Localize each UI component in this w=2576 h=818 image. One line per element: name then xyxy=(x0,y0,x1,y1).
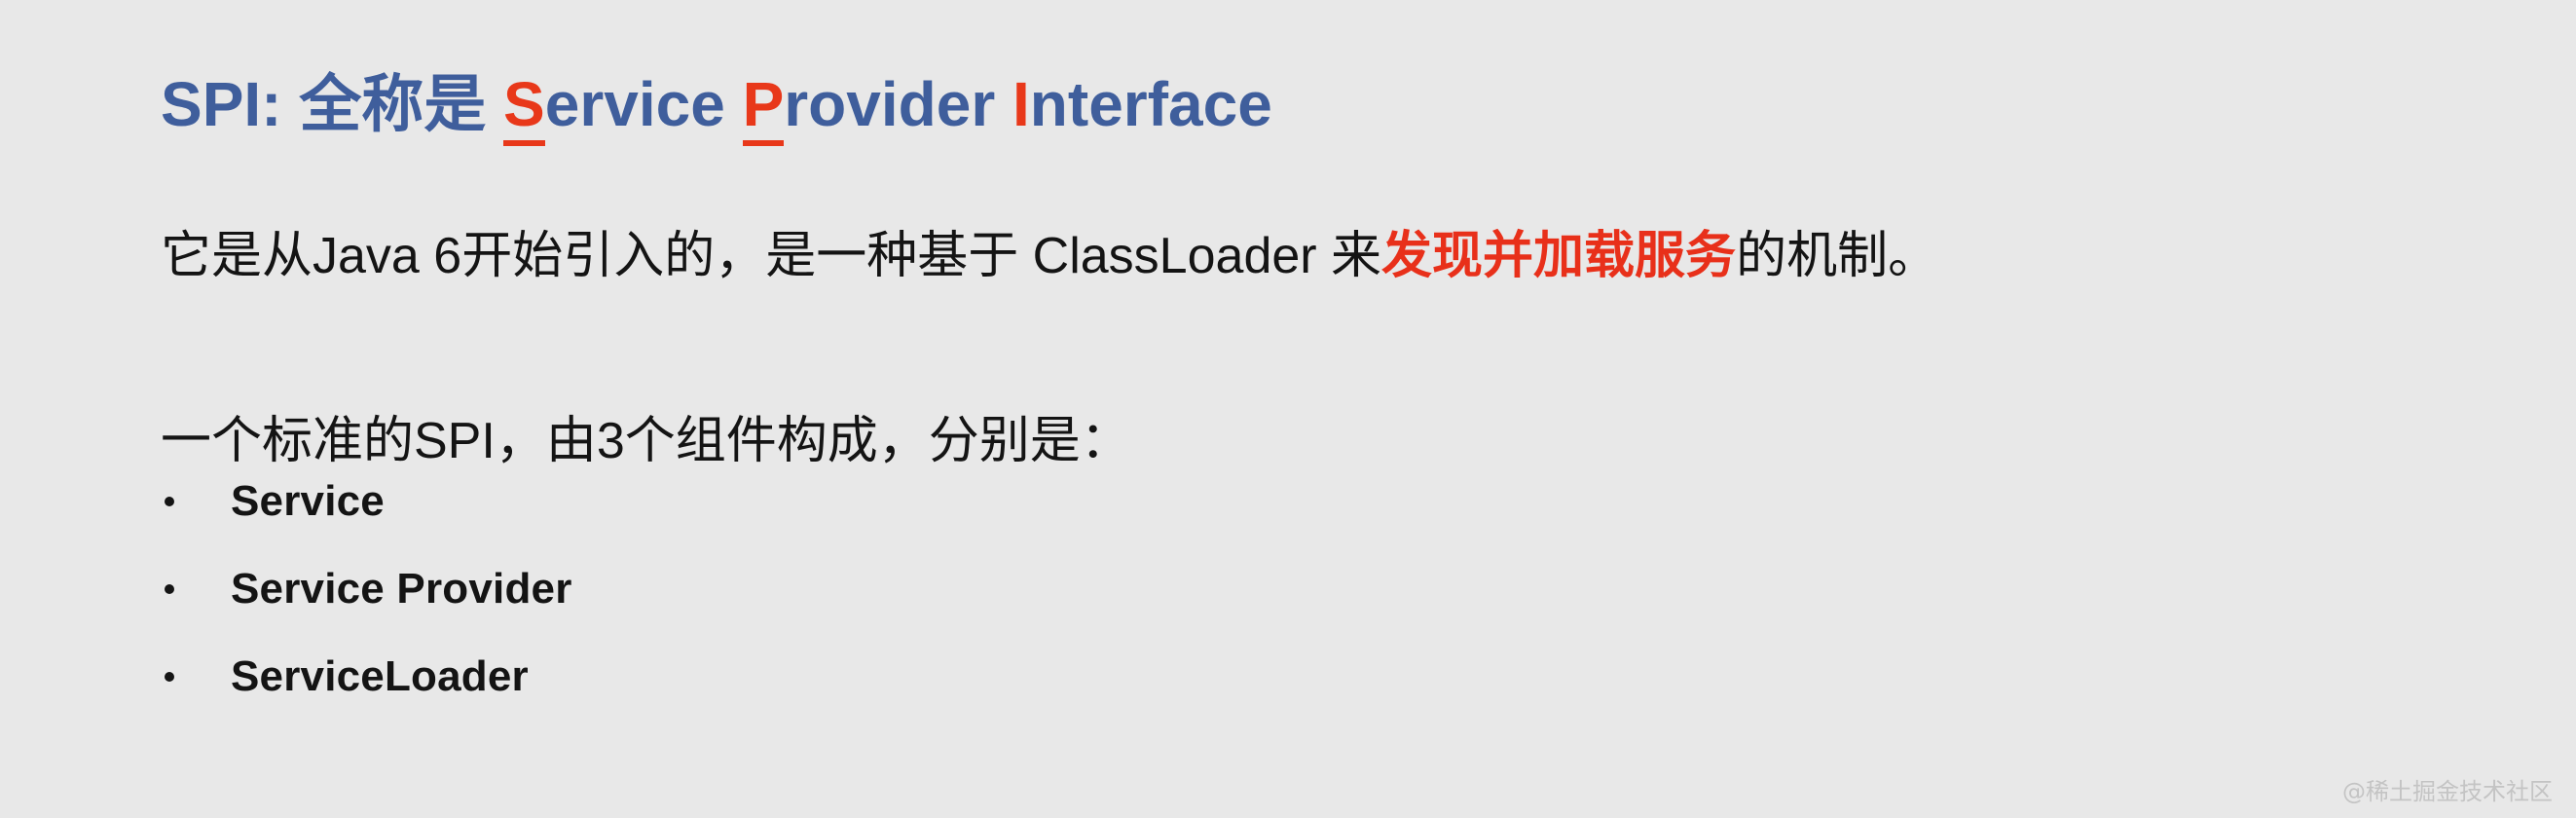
component-label-service-provider: Service Provider xyxy=(231,565,572,613)
slide-canvas: SPI: 全称是 Service Provider Interface 它是从J… xyxy=(0,0,2576,818)
intro-lead-text: 它是从Java 6开始引入的，是一种基于 ClassLoader 来 xyxy=(161,228,1381,284)
title-space-2 xyxy=(725,69,743,139)
title-chinese-phrase: 全称是 xyxy=(299,69,486,141)
title-initial-i: I xyxy=(1012,69,1030,140)
list-item: Service xyxy=(161,458,572,545)
title-initial-p: P xyxy=(743,69,785,146)
bullet-dot-icon xyxy=(165,497,174,506)
intro-paragraph: 它是从Java 6开始引入的，是一种基于 ClassLoader 来发现并加载服… xyxy=(161,224,1938,290)
title-initial-s: S xyxy=(503,69,545,146)
component-label-serviceloader: ServiceLoader xyxy=(231,652,529,701)
title-acronym: SPI: xyxy=(161,69,299,139)
list-item: ServiceLoader xyxy=(161,633,572,721)
bullet-dot-icon xyxy=(165,672,174,682)
intro-tail-text: 的机制。 xyxy=(1736,228,1938,284)
intro-highlight-text: 发现并加载服务 xyxy=(1381,228,1736,284)
title-word-interface: nterface xyxy=(1030,69,1272,139)
component-label-service: Service xyxy=(231,477,385,526)
page-title: SPI: 全称是 Service Provider Interface xyxy=(161,65,1272,144)
title-word-service: ervice xyxy=(545,69,725,139)
watermark: @稀土掘金技术社区 xyxy=(2342,772,2553,806)
title-space-1 xyxy=(486,69,503,139)
title-word-provider: rovider xyxy=(784,69,995,139)
bullet-dot-icon xyxy=(165,584,174,594)
list-item: Service Provider xyxy=(161,545,572,633)
title-space-3 xyxy=(995,69,1012,139)
components-list: Service Service Provider ServiceLoader xyxy=(161,458,572,721)
